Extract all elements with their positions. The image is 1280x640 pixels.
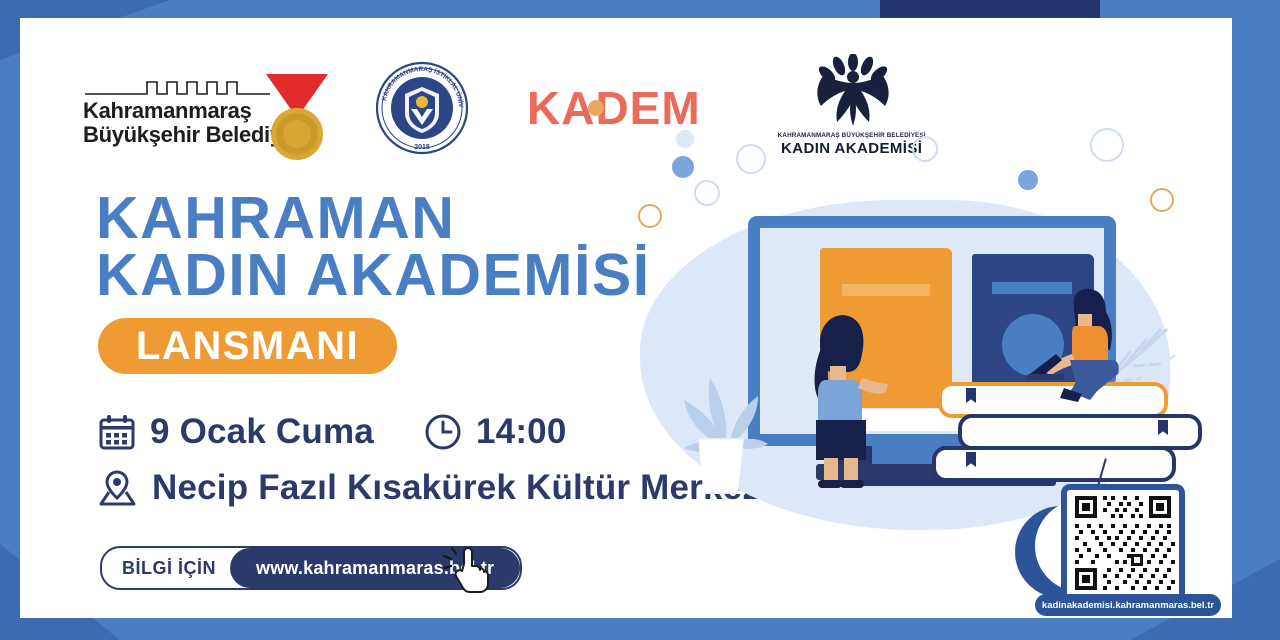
university-seal-icon: KAHRAMANMARAŞ İSTİKLAL ÜNİVERSİTESİ 2018: [375, 61, 469, 155]
decor-circle: [736, 144, 766, 174]
kadem-logo: KADEM: [527, 85, 701, 131]
calendar-icon: [98, 413, 136, 451]
floral-woman-icon: [799, 54, 907, 132]
bookmark-icon: [966, 452, 976, 467]
map-pin-icon: [98, 468, 138, 508]
date-time-row: 9 Ocak Cuma 14:00: [98, 412, 567, 452]
qr-code-frame[interactable]: [1061, 484, 1185, 602]
woman-standing-figure: [796, 288, 892, 488]
woman-sitting-with-laptop-figure: [1020, 288, 1150, 408]
qr-code[interactable]: [1067, 490, 1179, 596]
info-bar-label: BİLGİ İÇİN: [122, 558, 216, 579]
qr-section[interactable]: kadinakademisi.kahramanmaras.bel.tr: [1015, 484, 1225, 618]
decor-dot: [1018, 170, 1038, 190]
lansmani-label: LANSMANI: [136, 326, 359, 366]
clock-icon: [424, 413, 462, 451]
stacked-book: [958, 414, 1202, 450]
municipality-logo: Kahramanmaraş Büyükşehir Belediyesi: [75, 60, 305, 156]
bookmark-icon: [1158, 420, 1168, 435]
decor-dot: [588, 100, 604, 116]
poster-card: Kahramanmaraş Büyükşehir Belediyesi: [20, 18, 1232, 618]
qr-code-icon: [1067, 490, 1179, 596]
decor-circle: [694, 180, 720, 206]
municipality-line1: Kahramanmaraş: [83, 98, 252, 124]
decor-circle: [638, 204, 662, 228]
castle-wall-icon: [85, 74, 270, 96]
illustration: [620, 138, 1232, 538]
qr-caption-pill: kadinakademisi.kahramanmaras.bel.tr: [1035, 594, 1221, 616]
decor-dot: [672, 156, 694, 178]
lansmani-badge: LANSMANI: [98, 318, 397, 374]
medal-icon: [260, 72, 334, 164]
decor-circle: [1150, 188, 1174, 212]
plant-pot: [698, 438, 744, 494]
decor-dot: [676, 130, 694, 148]
headline-line-2: KADIN AKADEMİSİ: [96, 247, 651, 304]
qr-caption-text: kadinakademisi.kahramanmaras.bel.tr: [1042, 600, 1214, 611]
event-date: 9 Ocak Cuma: [150, 412, 374, 452]
university-logo: KAHRAMANMARAŞ İSTİKLAL ÜNİVERSİTESİ 2018: [375, 61, 469, 155]
event-poster: Kahramanmaraş Büyükşehir Belediyesi: [0, 0, 1280, 640]
decor-circle: [912, 136, 938, 162]
headline: KAHRAMAN KADIN AKADEMİSİ: [96, 190, 651, 304]
event-time: 14:00: [476, 412, 567, 452]
click-hand-icon: [440, 542, 502, 594]
svg-text:2018: 2018: [414, 144, 430, 151]
headline-line-1: KAHRAMAN: [96, 190, 651, 247]
decor-circle: [1090, 128, 1124, 162]
stacked-book: [932, 446, 1176, 482]
bookmark-icon: [966, 388, 976, 403]
